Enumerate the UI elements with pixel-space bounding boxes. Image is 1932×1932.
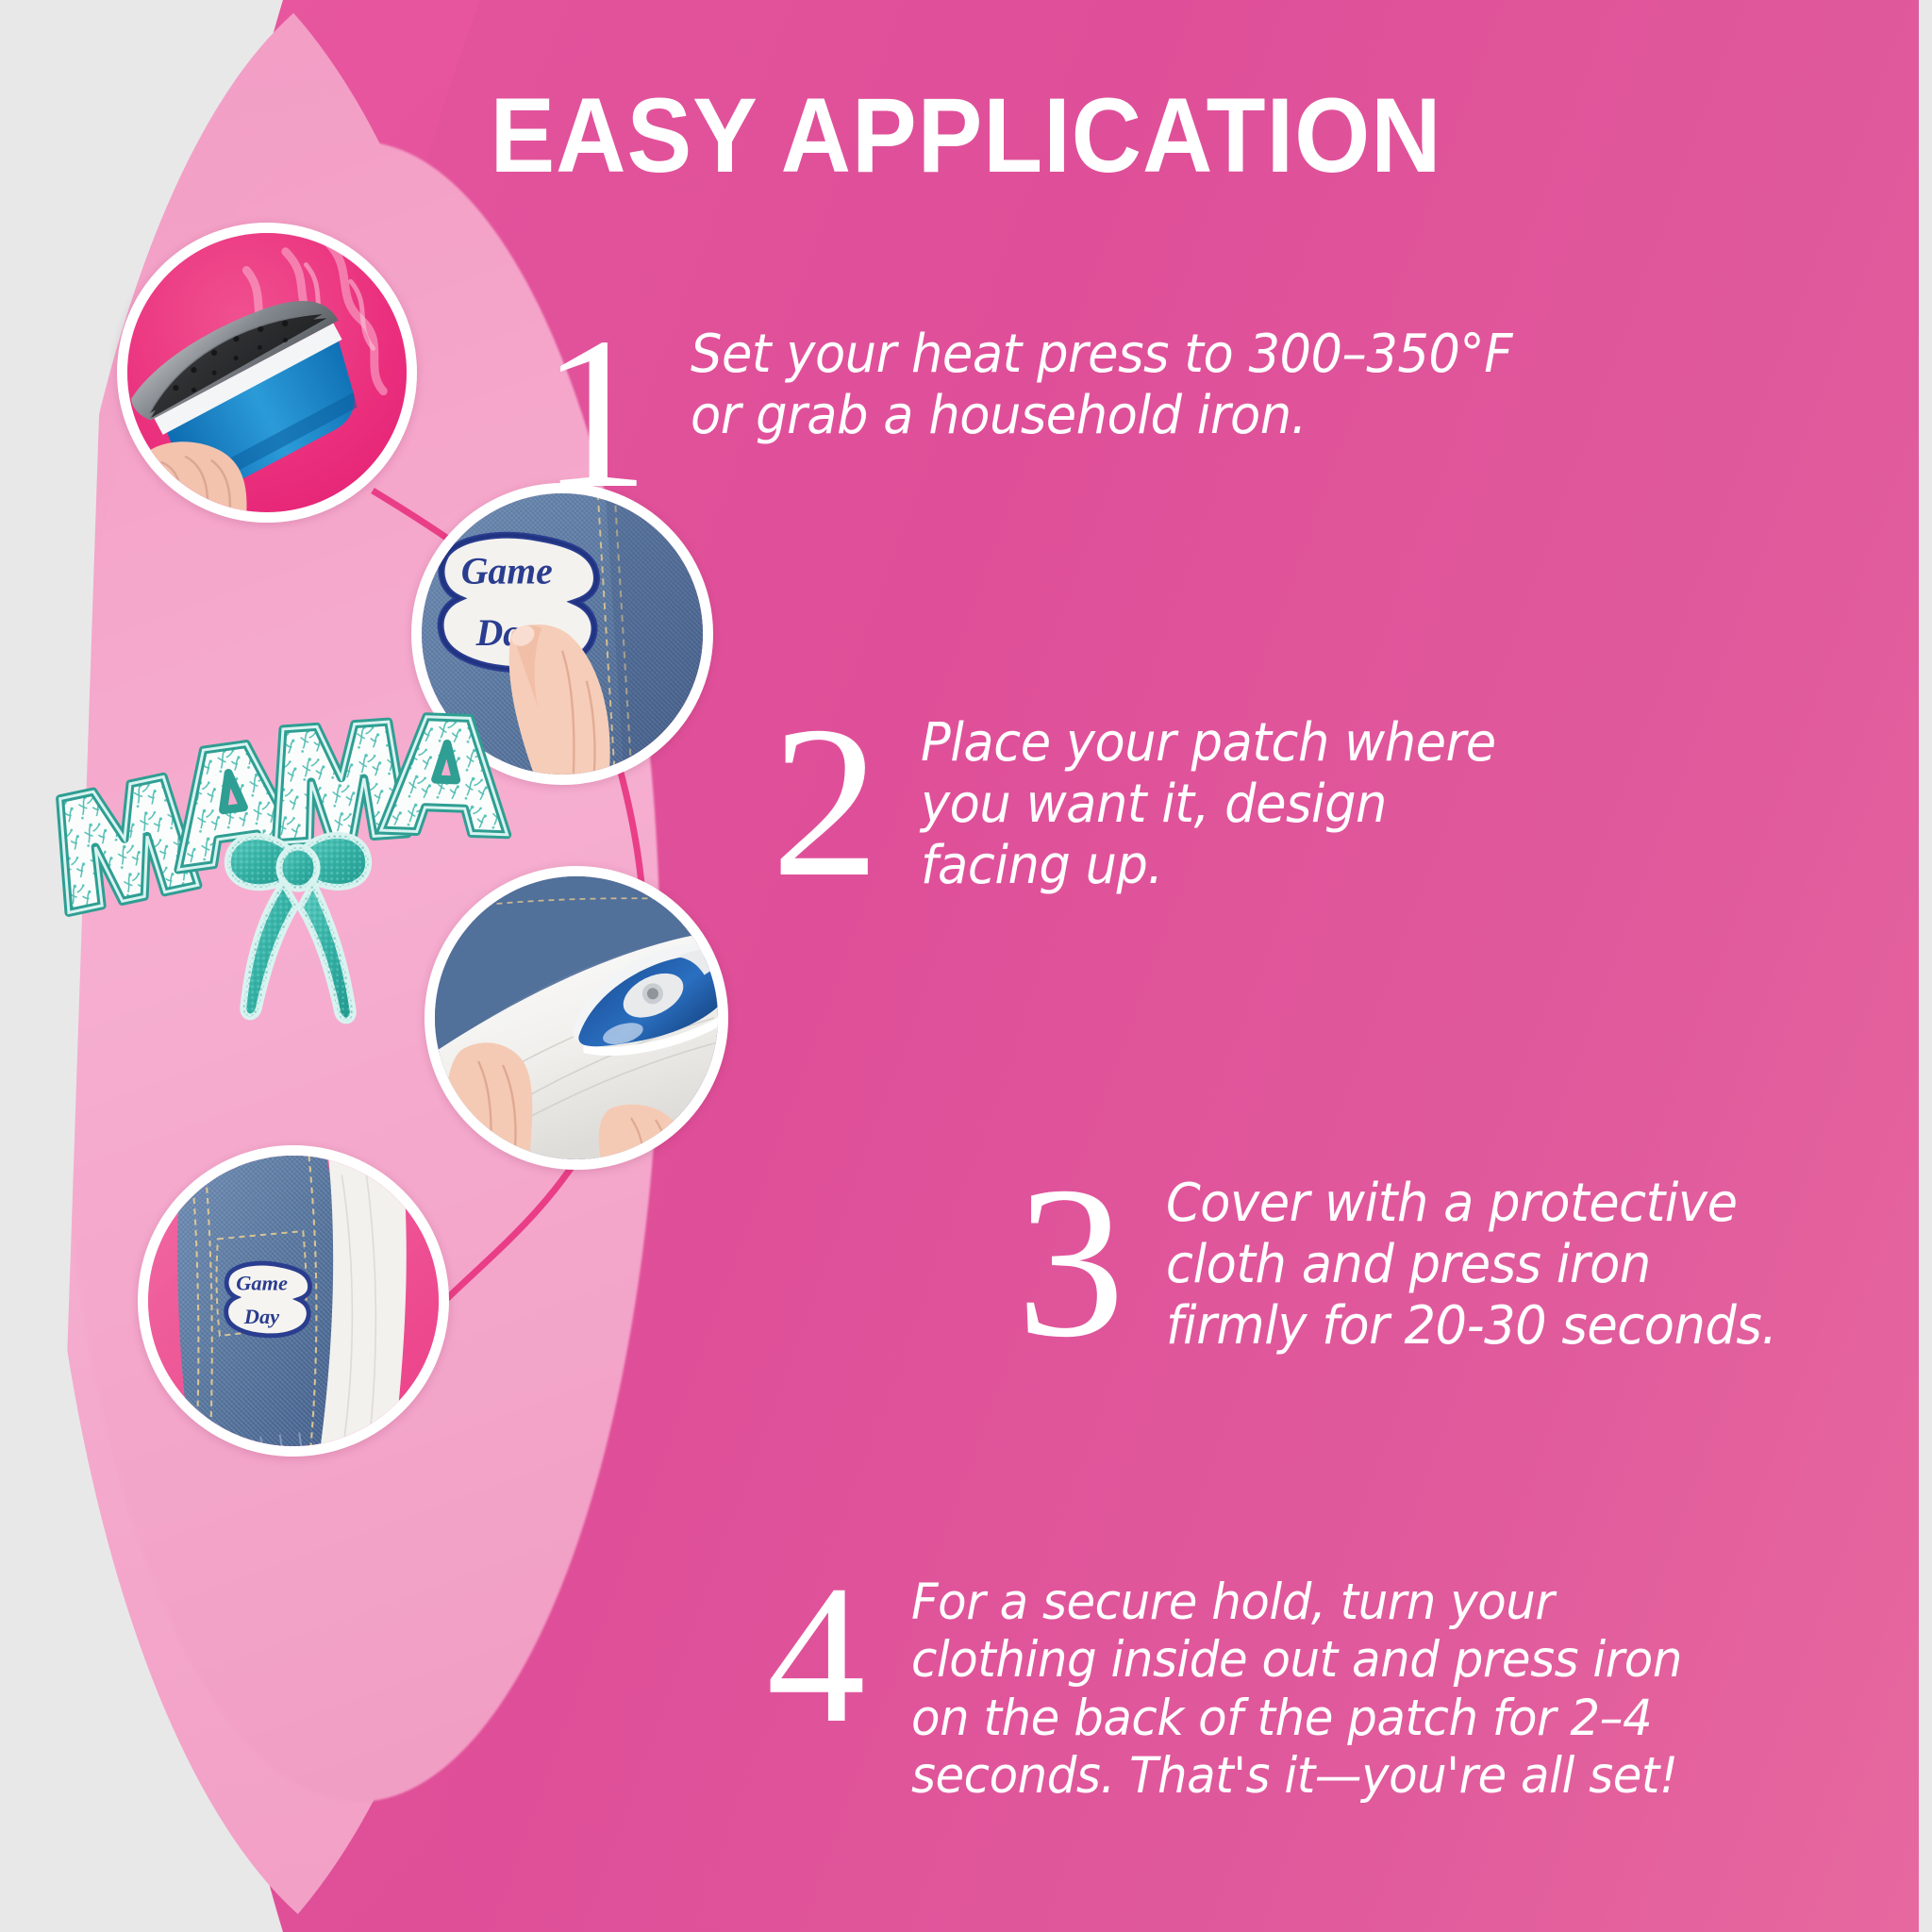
- steam-iron-photo: [117, 223, 417, 523]
- step-1-number: 1: [525, 325, 666, 503]
- step-2: 2 Place your patch where you want it, de…: [755, 713, 1679, 897]
- step-1-text: Set your heat press to 300–350°F or grab…: [691, 325, 1512, 447]
- finished-jacket-photo: Game Day: [138, 1145, 449, 1457]
- patch-text-day: Day: [243, 1305, 280, 1328]
- patch-text-game: Game: [236, 1272, 288, 1295]
- step-4: 4 For a secure hold, turn your clothing …: [745, 1574, 1906, 1806]
- step-3: 3 Cover with a protective cloth and pres…: [1000, 1174, 1906, 1357]
- step-3-text: Cover with a protective cloth and press …: [1166, 1174, 1777, 1357]
- step-2-text: Place your patch where you want it, desi…: [921, 713, 1496, 897]
- step-3-number: 3: [1000, 1174, 1141, 1352]
- step-4-number: 4: [745, 1574, 887, 1736]
- poster-canvas: EASY APPLICATION: [0, 0, 1932, 1932]
- page-title: EASY APPLICATION: [77, 83, 1855, 189]
- mama-bow-patch: [38, 675, 519, 1034]
- step-2-number: 2: [755, 713, 896, 891]
- patch-text-game: Game: [461, 550, 553, 591]
- step-1: 1 Set your heat press to 300–350°F or gr…: [525, 325, 1638, 503]
- step-4-text: For a secure hold, turn your clothing in…: [911, 1574, 1682, 1806]
